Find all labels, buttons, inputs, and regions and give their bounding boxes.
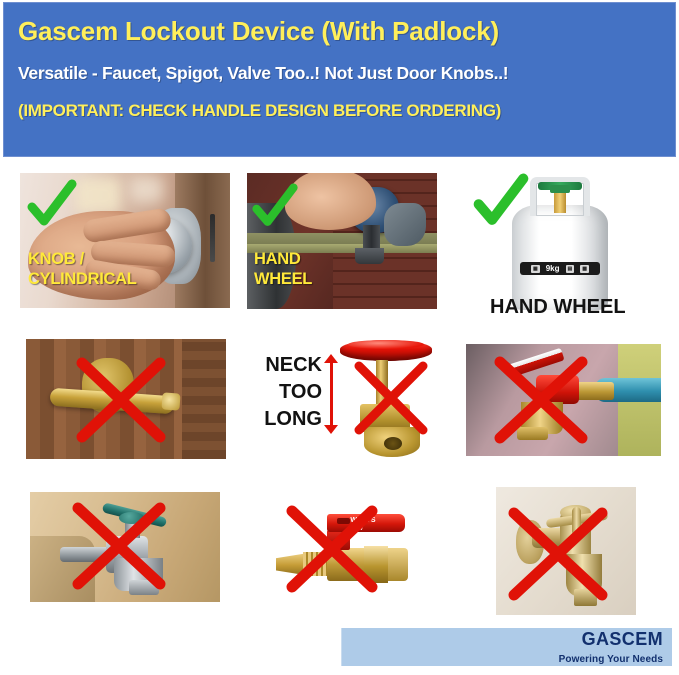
grid-cell-knob-cylindrical: KNOB / CYLINDRICAL (20, 173, 230, 308)
valve-brand-label: WATTS (350, 517, 375, 524)
red-lever-handle-shape (508, 348, 564, 378)
header-important-note: (IMPORTANT: CHECK HANDLE DESIGN BEFORE O… (18, 102, 661, 121)
wall-shape (30, 536, 95, 602)
photo-teal-handle-wall-tap (30, 492, 220, 602)
valve-model-label: GBV (350, 526, 363, 532)
faucet-spout-tip-shape (574, 589, 596, 606)
footer-brand-banner: GASCEM Powering Your Needs (341, 628, 672, 666)
infographic-page: Gascem Lockout Device (With Padlock) Ver… (0, 0, 679, 675)
spout-end-shape (517, 427, 548, 440)
caption-handwheel-line2: WHEEL (254, 271, 312, 288)
label-chip-mid: ▤ (566, 265, 575, 273)
grid-cell-cross-handle-faucet (496, 487, 636, 615)
lever-collar-shape (327, 530, 351, 550)
cross-handle-arm-shape (572, 507, 582, 535)
background-blur-shape (129, 176, 163, 203)
photo-hand-on-door-knob: KNOB / CYLINDRICAL (20, 173, 230, 308)
valve-knob-shape (550, 185, 570, 193)
photo-lpg-gas-cylinder: ▦ 9kg ▤ ▩ HAND WHEEL (460, 163, 660, 323)
valve-bore-shape (384, 437, 402, 450)
compatibility-grid: KNOB / CYLINDRICAL HAND WHEEL (0, 157, 679, 627)
photo-long-neck-valve: NECK TOO LONG (248, 337, 448, 465)
brand-name: GASCEM (582, 629, 663, 650)
header-banner: Gascem Lockout Device (With Padlock) Ver… (3, 2, 676, 157)
measure-arrow-head-up (324, 354, 338, 363)
photo-red-lever-ball-spigot (466, 344, 661, 456)
grid-cell-red-lever-spigot (466, 344, 661, 456)
valve-outlet-shape (388, 548, 408, 581)
caption-cylinder-handwheel: HAND WHEEL (490, 297, 626, 318)
grid-cell-neck-too-long: NECK TOO LONG (248, 337, 448, 465)
grid-cell-teal-t-handle-tap (30, 492, 220, 602)
caption-knob-line1: KNOB / (28, 251, 84, 268)
measure-arrow-line (330, 359, 333, 431)
caption-neck-line2: TOO (248, 382, 322, 403)
grid-cell-lever-door-handle (26, 339, 226, 459)
grid-cell-hand-wheel-cylinder: ▦ 9kg ▤ ▩ HAND WHEEL (460, 163, 660, 323)
valve-nut-shape (364, 546, 388, 583)
label-chip-left: ▦ (531, 265, 540, 273)
tap-spout-tip-shape (129, 580, 159, 595)
background-blur-shape (75, 178, 121, 213)
measure-arrow-head-down (324, 425, 338, 434)
lever-tip-shape (161, 392, 180, 410)
hand-shape (285, 173, 376, 230)
photo-brass-cross-handle-faucet (496, 487, 636, 615)
cylinder-body-shape (512, 205, 608, 311)
caption-neck-line1: NECK (248, 355, 322, 376)
grid-cell-hand-wheel-spigot: HAND WHEEL (247, 173, 437, 309)
red-valve-body-shape (536, 375, 579, 404)
caption-knob-line2: CYLINDRICAL (28, 271, 137, 288)
photo-hand-on-spigot-handwheel: HAND WHEEL (247, 173, 437, 309)
spout-shape (355, 248, 384, 264)
photo-watts-gas-ball-valve: WATTS GBV (262, 495, 432, 605)
caption-neck-line3: LONG (248, 409, 322, 430)
rag-shape (384, 203, 426, 247)
photo-lever-door-handle (26, 339, 226, 459)
lever-slot-shape (337, 518, 351, 524)
grid-cell-watts-gas-ball-valve: WATTS GBV (262, 495, 432, 605)
valve-neck-shape (376, 360, 388, 406)
header-subtitle: Versatile - Faucet, Spigot, Valve Too..!… (18, 64, 661, 83)
red-wheel-top-shape (348, 340, 424, 349)
brand-tagline: Powering Your Needs (559, 654, 663, 665)
door-strike-plate-shape (210, 214, 215, 263)
tap-handle-cap-shape (119, 512, 144, 524)
cylinder-label-text-row: ▦ 9kg ▤ ▩ (520, 262, 600, 275)
label-chip-right: ▩ (580, 265, 589, 273)
caption-handwheel-line1: HAND (254, 251, 300, 268)
cylinder-weight-label: 9kg (546, 264, 560, 273)
door-panel-shape (182, 339, 226, 459)
page-title: Gascem Lockout Device (With Padlock) (18, 17, 661, 46)
